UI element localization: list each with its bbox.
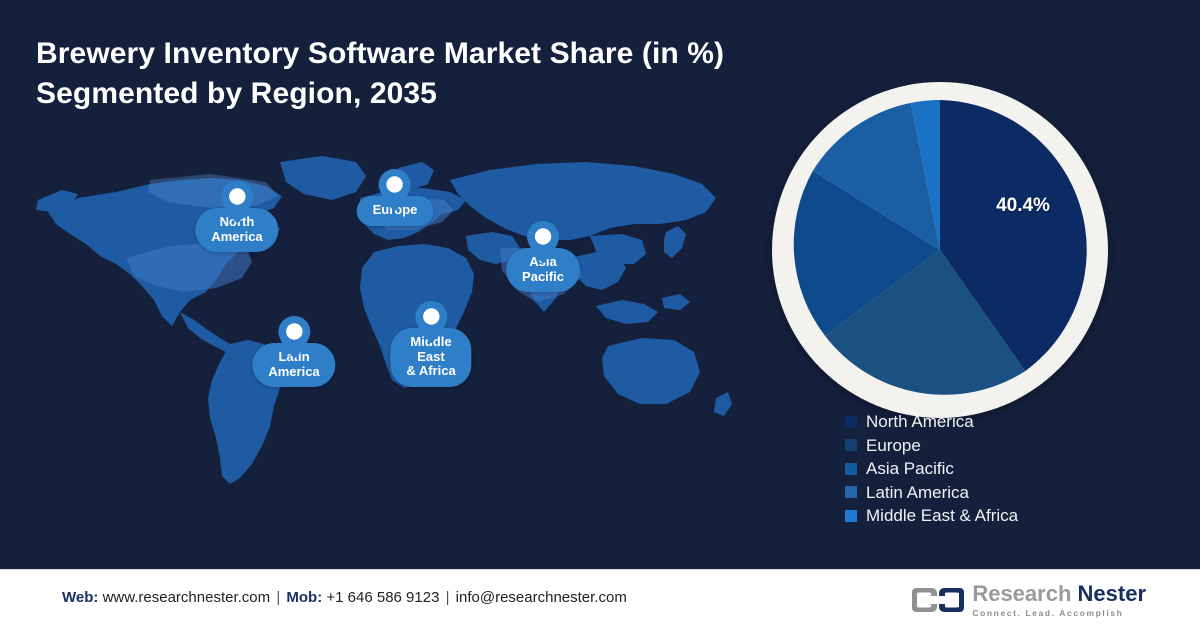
legend-item-label: North America	[866, 413, 974, 430]
logo-text-block: Research Nester Connect. Lead. Accomplis…	[972, 582, 1146, 617]
legend-swatch-icon	[845, 463, 857, 475]
legend-swatch-icon	[845, 439, 857, 451]
legend-swatch-icon	[845, 510, 857, 522]
logo-wordmark: Research Nester	[972, 582, 1146, 605]
legend-item-label: Latin America	[866, 484, 969, 501]
title-line-1: Brewery Inventory Software Market Share …	[36, 34, 856, 74]
legend-item-asia-pacific[interactable]: Asia Pacific	[845, 457, 1165, 481]
footer-bar: Web: www.researchnester.com | Mob: +1 64…	[0, 569, 1200, 628]
chart-legend: North America Europe Asia Pacific Latin …	[845, 410, 1165, 528]
legend-item-label: Middle East & Africa	[866, 507, 1018, 524]
map-pin-icon	[526, 220, 560, 264]
logo-tagline: Connect. Lead. Accomplish	[972, 608, 1146, 618]
logo-word-nester: Nester	[1071, 581, 1146, 606]
footer-mob-label: Mob:	[286, 589, 322, 606]
footer-email[interactable]: info@researchnester.com	[456, 589, 627, 606]
footer-web-label: Web:	[62, 589, 98, 606]
footer-separator-2: |	[444, 589, 452, 606]
pie-slices	[786, 96, 1094, 404]
map-marker-north-america[interactable]: North America	[195, 180, 278, 252]
legend-item-middle-east-africa[interactable]: Middle East & Africa	[845, 504, 1165, 528]
research-nester-logo[interactable]: Research Nester Connect. Lead. Accomplis…	[912, 580, 1146, 620]
pie-value-label: 40.4%	[968, 195, 1078, 217]
footer-web-value[interactable]: www.researchnester.com	[103, 589, 271, 606]
pie-chart: 40.4%	[772, 82, 1108, 418]
legend-swatch-icon	[845, 486, 857, 498]
legend-item-europe[interactable]: Europe	[845, 434, 1165, 458]
map-pin-icon	[378, 168, 412, 212]
map-pin-icon	[414, 300, 448, 344]
map-pin-icon	[220, 180, 254, 224]
logo-word-research: Research	[972, 581, 1071, 606]
logo-mark-icon	[912, 585, 964, 615]
footer-mob-value[interactable]: +1 646 586 9123	[326, 589, 439, 606]
map-marker-europe[interactable]: Europe	[357, 168, 434, 226]
map-pin-icon	[277, 315, 311, 359]
legend-item-latin-america[interactable]: Latin America	[845, 481, 1165, 505]
legend-swatch-icon	[845, 416, 857, 428]
footer-contact: Web: www.researchnester.com | Mob: +1 64…	[62, 589, 627, 606]
map-marker-asia-pacific[interactable]: Asia Pacific	[506, 220, 580, 292]
map-marker-middle-east-africa[interactable]: Middle East & Africa	[390, 300, 471, 387]
title-line-2: Segmented by Region, 2035	[36, 74, 856, 114]
world-map: North America Europe Asia Pacific Latin …	[30, 140, 750, 540]
page-title: Brewery Inventory Software Market Share …	[36, 34, 856, 113]
legend-item-north-america[interactable]: North America	[845, 410, 1165, 434]
legend-item-label: Europe	[866, 437, 921, 454]
map-marker-latin-america[interactable]: Latin America	[252, 315, 335, 387]
footer-separator-1: |	[274, 589, 282, 606]
slide-root: Brewery Inventory Software Market Share …	[0, 0, 1200, 628]
legend-item-label: Asia Pacific	[866, 460, 954, 477]
